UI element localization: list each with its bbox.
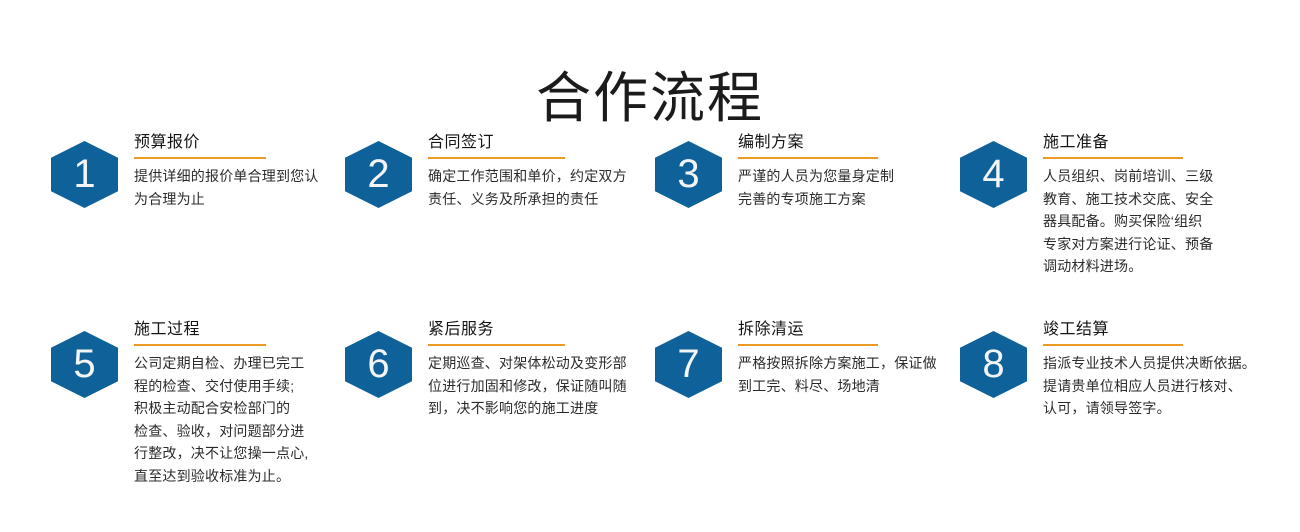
step-heading: 合同签订 <box>428 132 637 153</box>
step-heading: 竣工结算 <box>1043 319 1260 340</box>
process-step-1[interactable]: 1 预算报价 提供详细的报价单合理到您认 为合理为止 <box>51 132 341 210</box>
step-number-label: 8 <box>982 344 1004 384</box>
step-number-hexagon-6: 6 <box>345 331 412 398</box>
step-number-label: 3 <box>677 154 699 194</box>
process-step-6[interactable]: 6 紧后服务 定期巡查、对架体松动及变形部 位进行加固和修改，保证随叫随 到，决… <box>345 319 637 420</box>
step-text-block: 施工准备 人员组织、岗前培训、三级 教育、施工技术交底、安全 器具配备。购买保险… <box>1043 132 1260 278</box>
process-row-1: 1 预算报价 提供详细的报价单合理到您认 为合理为止 2 合同签订 确定工作范围… <box>0 132 1300 312</box>
step-description: 严格按照拆除方案施工，保证做 到工完、料尽、场地清 <box>738 352 952 397</box>
step-description: 人员组织、岗前培训、三级 教育、施工技术交底、安全 器具配备。购买保险‘组织 专… <box>1043 165 1259 278</box>
step-number-hexagon-2: 2 <box>345 141 412 208</box>
step-number-label: 2 <box>367 154 389 194</box>
step-number-label: 7 <box>677 344 699 384</box>
step-number-label: 6 <box>367 344 389 384</box>
process-row-2: 5 施工过程 公司定期自检、办理已完工 程的检查、交付使用手续; 积极主动配合安… <box>0 312 1300 502</box>
step-number-hexagon-3: 3 <box>655 141 722 208</box>
step-text-block: 拆除清运 严格按照拆除方案施工，保证做 到工完、料尽、场地清 <box>738 319 947 397</box>
step-number-hexagon-5: 5 <box>51 331 118 398</box>
step-heading: 施工准备 <box>1043 132 1260 153</box>
step-number-label: 5 <box>73 344 95 384</box>
process-step-5[interactable]: 5 施工过程 公司定期自检、办理已完工 程的检查、交付使用手续; 积极主动配合安… <box>51 319 341 487</box>
step-heading: 编制方案 <box>738 132 947 153</box>
step-number-hexagon-1: 1 <box>51 141 118 208</box>
step-number-label: 1 <box>73 154 95 194</box>
heading-underline-rule <box>134 157 266 159</box>
heading-underline-rule <box>1043 157 1183 159</box>
process-steps-grid: 1 预算报价 提供详细的报价单合理到您认 为合理为止 2 合同签订 确定工作范围… <box>0 132 1300 502</box>
step-number-label: 4 <box>982 154 1004 194</box>
heading-underline-rule <box>738 157 878 159</box>
process-step-7[interactable]: 7 拆除清运 严格按照拆除方案施工，保证做 到工完、料尽、场地清 <box>655 319 947 398</box>
step-description: 定期巡查、对架体松动及变形部 位进行加固和修改，保证随叫随 到，决不影响您的施工… <box>428 352 642 420</box>
step-heading: 预算报价 <box>134 132 341 153</box>
heading-underline-rule <box>428 157 565 159</box>
heading-underline-rule <box>134 344 266 346</box>
step-text-block: 施工过程 公司定期自检、办理已完工 程的检查、交付使用手续; 积极主动配合安检部… <box>134 319 341 487</box>
step-text-block: 紧后服务 定期巡查、对架体松动及变形部 位进行加固和修改，保证随叫随 到，决不影… <box>428 319 637 420</box>
step-number-hexagon-7: 7 <box>655 331 722 398</box>
cooperation-process-infographic: 合作流程 1 预算报价 提供详细的报价单合理到您认 为合理为止 2 合同签订 <box>0 0 1300 532</box>
step-description: 严谨的人员为您量身定制 完善的专项施工方案 <box>738 165 952 210</box>
step-number-hexagon-8: 8 <box>960 331 1027 398</box>
process-step-3[interactable]: 3 编制方案 严谨的人员为您量身定制 完善的专项施工方案 <box>655 132 947 210</box>
heading-underline-rule <box>738 344 878 346</box>
step-text-block: 合同签订 确定工作范围和单价，约定双方 责任、义务及所承担的责任 <box>428 132 637 210</box>
step-text-block: 编制方案 严谨的人员为您量身定制 完善的专项施工方案 <box>738 132 947 210</box>
process-step-2[interactable]: 2 合同签订 确定工作范围和单价，约定双方 责任、义务及所承担的责任 <box>345 132 637 210</box>
step-text-block: 预算报价 提供详细的报价单合理到您认 为合理为止 <box>134 132 341 210</box>
heading-underline-rule <box>1043 344 1183 346</box>
step-heading: 紧后服务 <box>428 319 637 340</box>
step-number-hexagon-4: 4 <box>960 141 1027 208</box>
process-step-8[interactable]: 8 竣工结算 指派专业技术人员提供决断依据。 提请贵单位相应人员进行核对、 认可… <box>960 319 1260 420</box>
step-description: 提供详细的报价单合理到您认 为合理为止 <box>134 165 342 210</box>
step-text-block: 竣工结算 指派专业技术人员提供决断依据。 提请贵单位相应人员进行核对、 认可，请… <box>1043 319 1260 420</box>
step-heading: 拆除清运 <box>738 319 947 340</box>
step-heading: 施工过程 <box>134 319 341 340</box>
process-step-4[interactable]: 4 施工准备 人员组织、岗前培训、三级 教育、施工技术交底、安全 器具配备。购买… <box>960 132 1260 278</box>
heading-underline-rule <box>428 344 565 346</box>
step-description: 指派专业技术人员提供决断依据。 提请贵单位相应人员进行核对、 认可，请领导签字。 <box>1043 352 1259 420</box>
step-description: 确定工作范围和单价，约定双方 责任、义务及所承担的责任 <box>428 165 642 210</box>
step-description: 公司定期自检、办理已完工 程的检查、交付使用手续; 积极主动配合安检部门的 检查… <box>134 352 342 487</box>
page-title: 合作流程 <box>0 63 1300 133</box>
